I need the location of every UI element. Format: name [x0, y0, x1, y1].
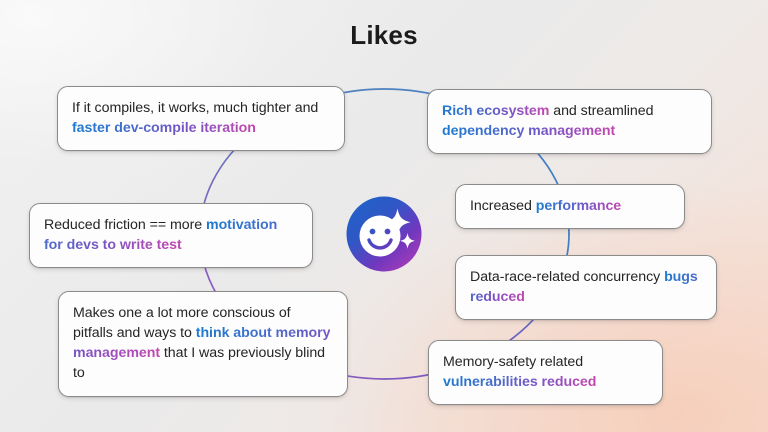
plain-phrase: and streamlined: [549, 103, 653, 119]
callout-friction[interactable]: Reduced friction == more motivation for …: [29, 203, 313, 268]
callout-text: Makes one a lot more conscious of pitfal…: [73, 305, 330, 381]
sparkle-smiley-badge-icon: [345, 195, 423, 273]
callout-text: If it compiles, it works, much tighter a…: [72, 100, 318, 136]
callout-concurrency[interactable]: Data-race-related concurrency bugs reduc…: [455, 255, 717, 320]
callout-memory-safety[interactable]: Memory-safety related vulnerabilities re…: [428, 340, 663, 405]
highlighted-phrase: faster dev-compile iteration: [72, 120, 256, 136]
callout-text: Increased performance: [470, 198, 621, 214]
slide-canvas: Likes: [0, 0, 768, 432]
callout-compiles[interactable]: If it compiles, it works, much tighter a…: [57, 86, 345, 151]
callout-performance[interactable]: Increased performance: [455, 184, 685, 229]
callout-ecosystem[interactable]: Rich ecosystem and streamlined dependenc…: [427, 89, 712, 154]
plain-phrase: Data-race-related concurrency: [470, 269, 664, 285]
highlighted-phrase: dependency management: [442, 123, 615, 139]
highlighted-phrase: Rich ecosystem: [442, 103, 549, 119]
callout-text: Rich ecosystem and streamlined dependenc…: [442, 103, 653, 139]
plain-phrase: Reduced friction == more: [44, 217, 206, 233]
callout-text: Reduced friction == more motivation for …: [44, 217, 277, 253]
callout-text: Memory-safety related vulnerabilities re…: [443, 354, 596, 390]
plain-phrase: If it compiles, it works, much tighter a…: [72, 100, 318, 116]
highlighted-phrase: vulnerabilities reduced: [443, 374, 596, 390]
plain-phrase: Memory-safety related: [443, 354, 583, 370]
highlighted-phrase: performance: [536, 198, 621, 214]
callout-conscious[interactable]: Makes one a lot more conscious of pitfal…: [58, 291, 348, 397]
callout-text: Data-race-related concurrency bugs reduc…: [470, 269, 698, 305]
page-title: Likes: [0, 20, 768, 51]
plain-phrase: Increased: [470, 198, 536, 214]
